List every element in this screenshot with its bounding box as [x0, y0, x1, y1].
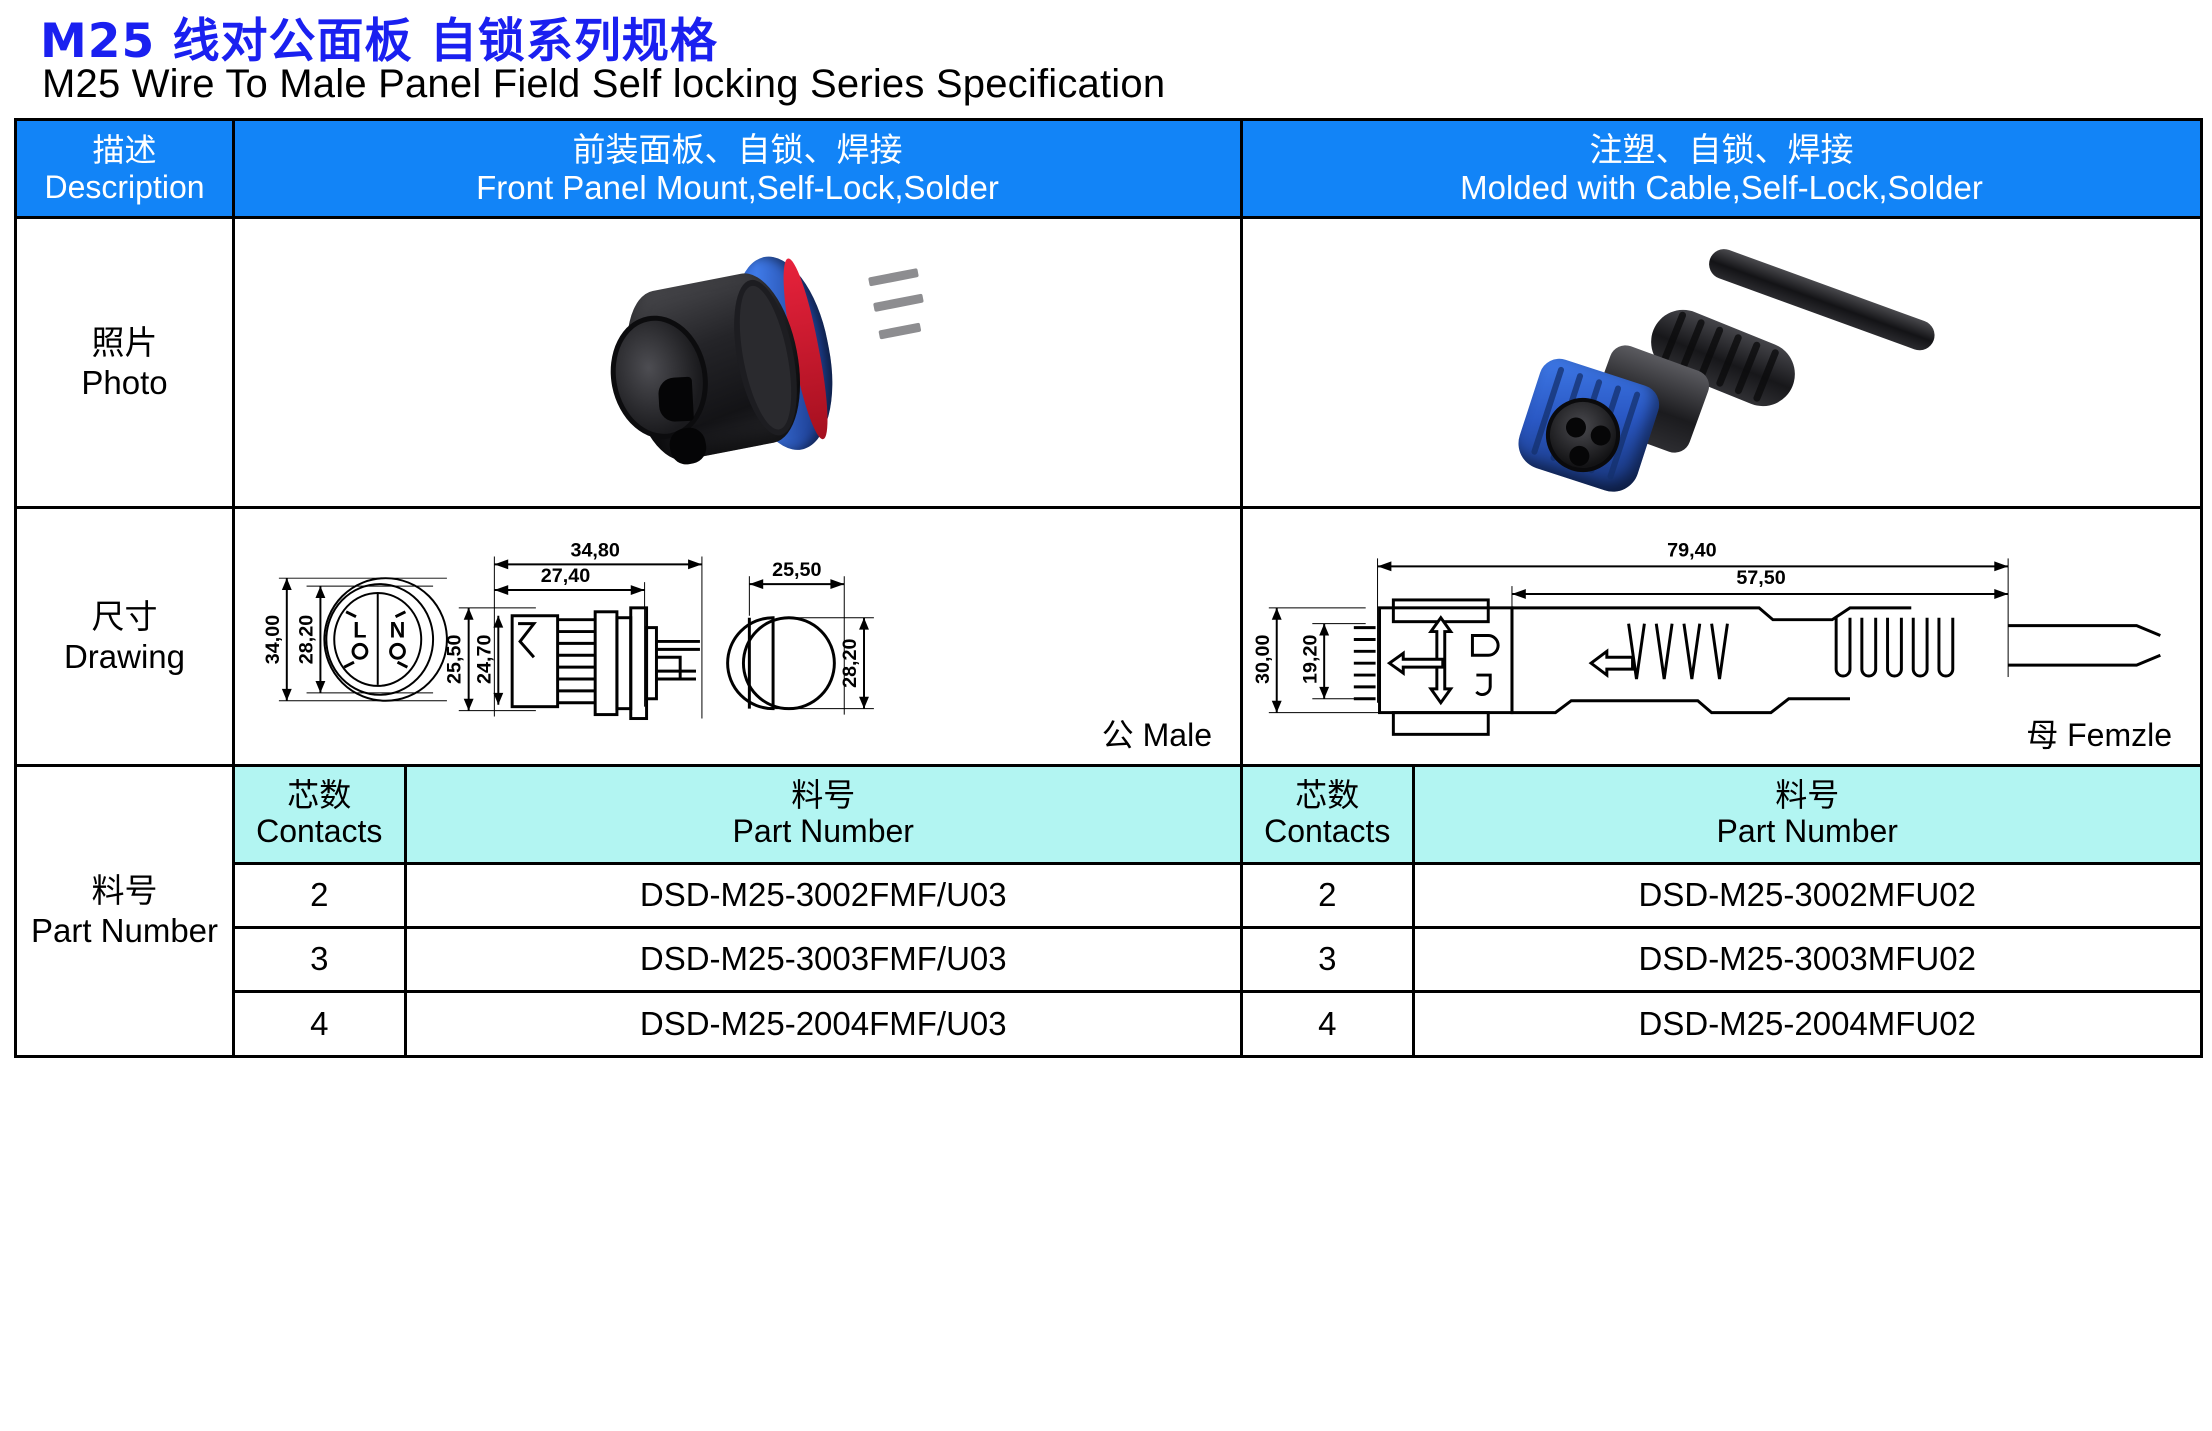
cell-contacts: 2 [1243, 863, 1413, 927]
drawing-front-panel-mount: 34,00 28,20 34,80 27,40 25,50 24,70 25,5… [234, 508, 1242, 766]
header-description-cn: 描述 [17, 132, 232, 168]
dim-right-inner-height: 19,20 [1299, 635, 1321, 684]
subheader-partnumber-left-en: Part Number [407, 814, 1241, 850]
dim-right-overall-length: 79,40 [1667, 539, 1716, 561]
cell-part-number: DSD-M25-3002FMF/U03 [405, 863, 1240, 927]
table-row: 2 DSD-M25-3002FMF/U03 [235, 863, 1240, 927]
molded-cable-connector-image [1502, 238, 1942, 488]
subheader-contacts-right: 芯数 Contacts [1243, 767, 1413, 863]
dim-cutout-height: 28,20 [839, 638, 861, 687]
part-number-left-container: 芯数 Contacts 料号 Part Number 2 DSD-M25-300… [234, 766, 1242, 1057]
table-row: 3 DSD-M25-3003MFU02 [1243, 927, 2200, 991]
dim-front-outer-diameter: 34,00 [262, 615, 284, 664]
cell-part-number: DSD-M25-3003FMF/U03 [405, 927, 1240, 991]
subheader-contacts-right-cn: 芯数 [1243, 778, 1412, 814]
row-label-drawing-cn: 尺寸 [17, 597, 232, 637]
gender-female-en: Femzle [2067, 717, 2172, 753]
photo-front-panel-connector [234, 218, 1242, 508]
part-number-table-right: 芯数 Contacts 料号 Part Number 2 DSD-M25-300… [1243, 767, 2200, 1055]
table-row: 4 DSD-M25-2004MFU02 [1243, 991, 2200, 1055]
page-title-chinese: M25 线对公面板 自锁系列规格 [40, 2, 718, 71]
header-col1-en: Front Panel Mount,Self-Lock,Solder [235, 169, 1240, 207]
row-label-partnumber-cn: 料号 [17, 871, 232, 911]
page-title-english: M25 Wire To Male Panel Field Self lockin… [42, 62, 1165, 107]
dim-side-overall-length: 34,80 [570, 539, 619, 561]
header-col1-cn: 前装面板、自锁、焊接 [235, 131, 1240, 169]
dim-right-overall-height: 30,00 [1252, 635, 1274, 684]
solder-pin-3 [878, 322, 921, 339]
table-row: 2 DSD-M25-3002MFU02 [1243, 863, 2200, 927]
row-label-part-number: 料号 Part Number [16, 766, 234, 1057]
table-header-row: 描述 Description 前装面板、自锁、焊接 Front Panel Mo… [16, 120, 2202, 218]
photo-molded-cable-connector [1242, 218, 2202, 508]
table-part-number-row: 料号 Part Number 芯数 Contacts 料号 Part Numbe… [16, 766, 2202, 1057]
cell-contacts: 4 [1243, 991, 1413, 1055]
row-label-photo-cn: 照片 [17, 323, 232, 363]
part-number-subheader-row-left: 芯数 Contacts 料号 Part Number [235, 767, 1240, 863]
dim-front-inner-diameter: 28,20 [296, 615, 318, 664]
row-label-drawing-en: Drawing [17, 637, 232, 677]
left-drawing-svg: 34,00 28,20 34,80 27,40 25,50 24,70 25,5… [235, 509, 1240, 764]
terminal-label-l: L [353, 617, 366, 642]
subheader-contacts-left-en: Contacts [235, 814, 404, 850]
subheader-partnumber-right: 料号 Part Number [1413, 767, 2200, 863]
header-description-en: Description [17, 169, 232, 205]
dim-cutout-width: 25,50 [772, 559, 821, 581]
subheader-partnumber-right-en: Part Number [1415, 814, 2201, 850]
table-drawing-row: 尺寸 Drawing [16, 508, 2202, 766]
gender-label-female: 母 Femzle [2026, 710, 2172, 756]
row-label-partnumber-en: Part Number [17, 911, 232, 951]
dim-right-body-length: 57,50 [1736, 567, 1785, 589]
cell-part-number: DSD-M25-2004FMF/U03 [405, 991, 1240, 1055]
row-label-photo-en: Photo [17, 363, 232, 403]
part-number-right-container: 芯数 Contacts 料号 Part Number 2 DSD-M25-300… [1242, 766, 2202, 1057]
drawing-molded-with-cable: 79,40 57,50 30,00 19,20 母 Femzle [1242, 508, 2202, 766]
header-col2-cn: 注塑、自锁、焊接 [1243, 131, 2200, 169]
part-number-subheader-row-right: 芯数 Contacts 料号 Part Number [1243, 767, 2200, 863]
header-cell-description: 描述 Description [16, 120, 234, 218]
subheader-contacts-left: 芯数 Contacts [235, 767, 405, 863]
dim-side-flange-height: 25,50 [444, 635, 466, 684]
cell-contacts: 2 [235, 863, 405, 927]
table-row: 4 DSD-M25-2004FMF/U03 [235, 991, 1240, 1055]
subheader-contacts-right-en: Contacts [1243, 814, 1412, 850]
cell-part-number: DSD-M25-3003MFU02 [1413, 927, 2200, 991]
cell-contacts: 3 [235, 927, 405, 991]
gender-male-cn: 公 [1102, 716, 1134, 754]
header-cell-front-panel-mount: 前装面板、自锁、焊接 Front Panel Mount,Self-Lock,S… [234, 120, 1242, 218]
cell-contacts: 4 [235, 991, 405, 1055]
part-number-table-left: 芯数 Contacts 料号 Part Number 2 DSD-M25-300… [235, 767, 1240, 1055]
solder-pin-2 [873, 293, 924, 311]
terminal-label-n: N [390, 617, 406, 642]
contact-slot-l [657, 376, 693, 422]
row-label-photo: 照片 Photo [16, 218, 234, 508]
subheader-partnumber-left-cn: 料号 [407, 778, 1241, 814]
header-cell-molded-with-cable: 注塑、自锁、焊接 Molded with Cable,Self-Lock,Sol… [1242, 120, 2202, 218]
cell-contacts: 3 [1243, 927, 1413, 991]
subheader-partnumber-right-cn: 料号 [1415, 778, 2201, 814]
dim-side-body-length: 27,40 [541, 565, 590, 587]
gender-male-en: Male [1143, 717, 1212, 753]
table-photo-row: 照片 Photo [16, 218, 2202, 508]
solder-pin-1 [868, 268, 919, 286]
specification-table: 描述 Description 前装面板、自锁、焊接 Front Panel Mo… [14, 118, 2203, 1058]
header-col2-en: Molded with Cable,Self-Lock,Solder [1243, 169, 2200, 207]
dim-side-body-height: 24,70 [473, 635, 495, 684]
cell-part-number: DSD-M25-3002MFU02 [1413, 863, 2200, 927]
row-label-drawing: 尺寸 Drawing [16, 508, 234, 766]
table-row: 3 DSD-M25-3003FMF/U03 [235, 927, 1240, 991]
gender-female-cn: 母 [2026, 716, 2058, 754]
cell-part-number: DSD-M25-2004MFU02 [1413, 991, 2200, 1055]
subheader-partnumber-left: 料号 Part Number [405, 767, 1240, 863]
datasheet-page: M25 线对公面板 自锁系列规格 M25 Wire To Male Panel … [0, 0, 2212, 1431]
gender-label-male: 公 Male [1102, 710, 1212, 756]
subheader-contacts-left-cn: 芯数 [235, 778, 404, 814]
panel-mount-connector-image [570, 231, 905, 494]
